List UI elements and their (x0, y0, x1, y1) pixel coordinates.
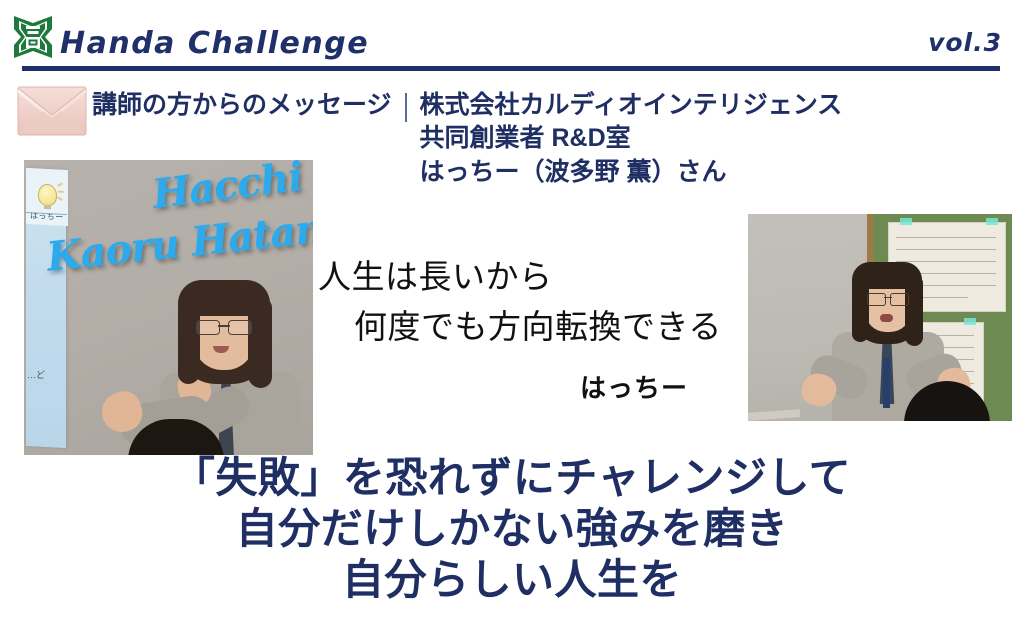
message-line-3: 自分らしい人生を (0, 554, 1024, 605)
heading-separator (405, 93, 407, 122)
quote-line-1: 人生は長いから (318, 252, 722, 302)
school-crest-icon (10, 13, 56, 61)
lecturer-photo-left: はっちー …ど Hacchi Kaoru Hatano (24, 160, 313, 455)
org-line-company: 株式会社カルディオインテリジェンス (420, 89, 843, 122)
slide-canvas: Handa Challenge vol.3 講師の方からのメッセージ (0, 0, 1024, 633)
lecturer-photo-right (748, 214, 1012, 421)
lightbulb-icon (38, 184, 57, 207)
projector-screen-top: はっちー (26, 168, 68, 226)
message-line-2: 自分だけしかない強みを磨き (0, 503, 1024, 554)
quote-line-2: 何度でも方向転換できる (318, 302, 722, 352)
lecturer-quote: 人生は長いから 何度でも方向転換できる (318, 252, 722, 352)
closing-message: 「失敗」を恐れずにチャレンジして 自分だけしかない強みを磨き 自分らしい人生を (0, 452, 1024, 606)
header-divider (22, 65, 1000, 71)
page-title: Handa Challenge (60, 26, 369, 61)
lecturer-affiliation: 株式会社カルディオインテリジェンス 共同創業者 R&D室 はっちー（波多野 薫）… (420, 89, 843, 189)
org-line-role: 共同創業者 R&D室 (420, 122, 843, 155)
volume-label: vol.3 (928, 28, 1002, 57)
message-line-1: 「失敗」を恐れずにチャレンジして (0, 452, 1024, 503)
envelope-icon (16, 84, 88, 138)
message-label: 講師の方からのメッセージ (92, 89, 392, 122)
org-line-name: はっちー（波多野 薫）さん (420, 156, 843, 189)
slide-caption-secondary: …ど (27, 368, 45, 381)
quote-author: はっちー (580, 368, 688, 405)
